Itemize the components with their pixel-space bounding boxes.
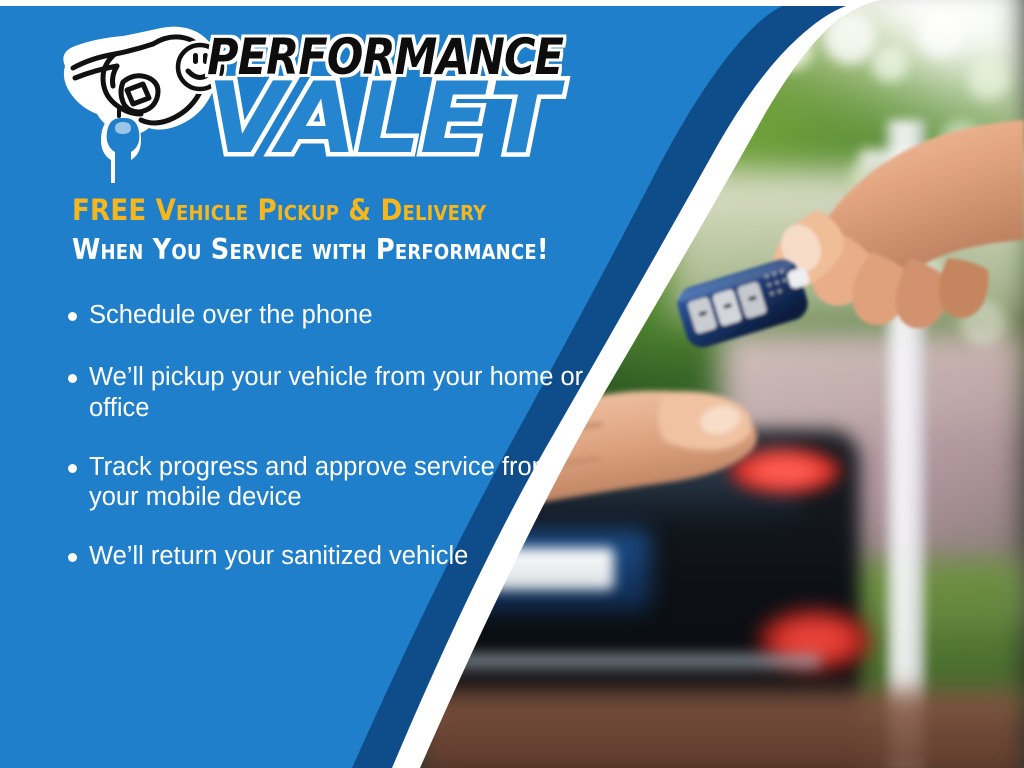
list-item: Schedule over the phone bbox=[68, 300, 588, 331]
headline-line-2: When You Service with Performance! bbox=[72, 235, 692, 264]
list-item-label: Schedule over the phone bbox=[89, 300, 588, 331]
logo-valet-text: VALET bbox=[207, 62, 565, 176]
bullet-dot-icon bbox=[68, 374, 77, 383]
performance-valet-logo: PERFORMANCE VALET bbox=[55, 18, 575, 183]
list-item: Track progress and approve service from … bbox=[68, 452, 588, 514]
bullet-dot-icon bbox=[68, 464, 77, 473]
benefits-list: Schedule over the phone We’ll pickup you… bbox=[68, 300, 588, 600]
promo-content: PERFORMANCE VALET FREE Vehicle Pickup & … bbox=[0, 0, 700, 768]
headline-line-1: FREE Vehicle Pickup & Delivery bbox=[72, 196, 692, 226]
list-item: We’ll pickup your vehicle from your home… bbox=[68, 362, 588, 424]
list-item-label: We’ll return your sanitized vehicle bbox=[89, 541, 588, 572]
list-item-label: We’ll pickup your vehicle from your home… bbox=[89, 362, 588, 424]
bullet-dot-icon bbox=[68, 312, 77, 321]
list-item-label: Track progress and approve service from … bbox=[89, 452, 588, 514]
performance-valet-promo-banner: PERFORMANCE VALET FREE Vehicle Pickup & … bbox=[0, 0, 1024, 768]
bullet-dot-icon bbox=[68, 553, 77, 562]
headline: FREE Vehicle Pickup & Delivery When You … bbox=[72, 196, 692, 264]
list-item: We’ll return your sanitized vehicle bbox=[68, 541, 588, 572]
